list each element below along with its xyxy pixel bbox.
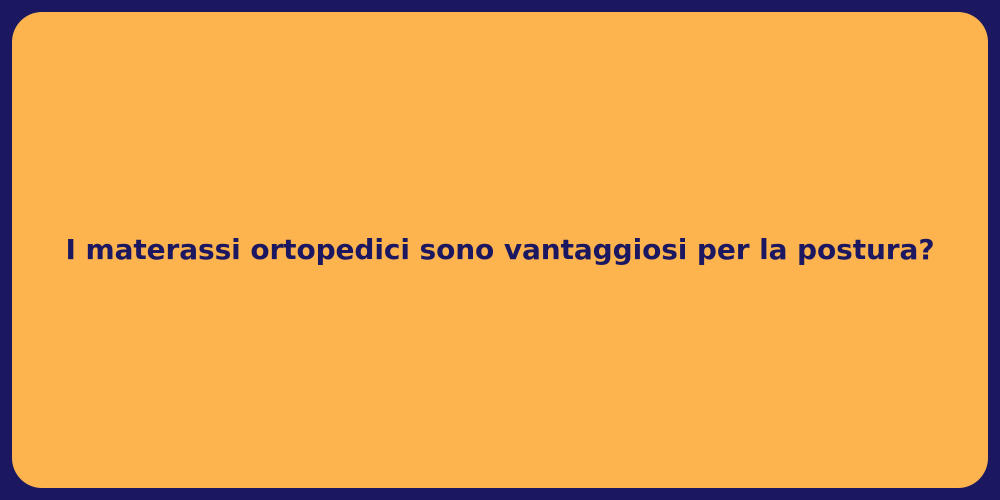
question-heading: I materassi ortopedici sono vantaggiosi … — [26, 231, 975, 269]
question-panel: I materassi ortopedici sono vantaggiosi … — [12, 12, 988, 488]
card-frame: I materassi ortopedici sono vantaggiosi … — [0, 0, 1000, 500]
